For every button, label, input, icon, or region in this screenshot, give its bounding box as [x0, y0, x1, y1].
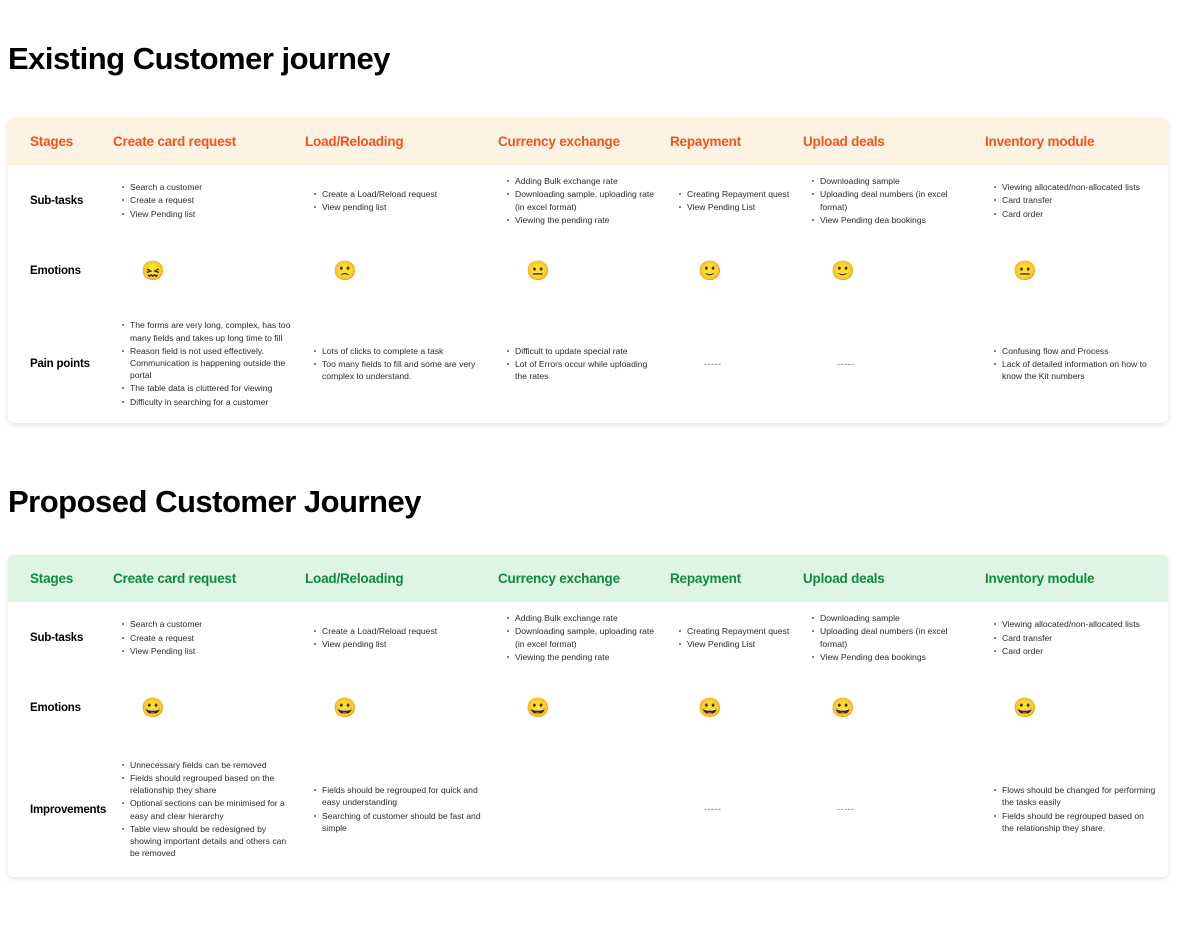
table-header-existing: Stages Create card request Load/Reloadin… [8, 118, 1168, 165]
bullet-item: Search a customer [122, 618, 293, 630]
column-header-stages: Stages [8, 118, 113, 165]
bullet-item: View pending list [314, 201, 486, 213]
bullet-item: View Pending dea bookings [812, 651, 973, 663]
cell-emotion-inventory-module: 😐 [985, 237, 1168, 305]
grinning-face-icon: 😀 [1013, 699, 1037, 718]
column-header-load-reloading: Load/Reloading [305, 118, 498, 165]
cell-improvements-upload-deals: ----- [803, 742, 985, 877]
bullet-item: The forms are very long, complex, has to… [122, 319, 293, 343]
cell-subtasks-repayment: Creating Repayment questView Pending Lis… [670, 165, 803, 237]
column-header-repayment: Repayment [670, 555, 803, 602]
bullet-item: Card order [994, 645, 1156, 657]
bullet-item: View pending list [314, 638, 486, 650]
column-header-upload-deals: Upload deals [803, 118, 985, 165]
column-header-currency-exchange: Currency exchange [498, 555, 670, 602]
grinning-face-icon: 😀 [831, 699, 855, 718]
bullet-item: Reason field is not used effectively. Co… [122, 345, 293, 382]
cell-subtasks-create-card: Search a customerCreate a requestView Pe… [113, 602, 305, 674]
column-header-load-reloading: Load/Reloading [305, 555, 498, 602]
table-row: Pain points The forms are very long, com… [8, 305, 1168, 423]
bullet-item: Fields should regrouped based on the rel… [122, 772, 293, 796]
bullet-item: The table data is cluttered for viewing [122, 382, 293, 394]
bullet-item: Create a Load/Reload request [314, 188, 486, 200]
bullet-item: Unnecessary fields can be removed [122, 759, 293, 771]
bullet-list: Creating Repayment questView Pending Lis… [670, 188, 791, 213]
neutral-face-icon: 😐 [526, 262, 550, 281]
bullet-item: Fields should be regrouped based on the … [994, 810, 1156, 834]
bullet-item: Adding Bulk exchange rate [507, 175, 658, 187]
section-title-proposed: Proposed Customer Journey [0, 485, 1178, 519]
table-row: Sub-tasks Search a customerCreate a requ… [8, 165, 1168, 237]
header-row: Stages Create card request Load/Reloadin… [8, 118, 1168, 165]
column-header-inventory-module: Inventory module [985, 555, 1168, 602]
cell-subtasks-inventory-module: Viewing allocated/non-allocated listsCar… [985, 165, 1168, 237]
bullet-item: View Pending list [122, 208, 293, 220]
cell-pain-upload-deals: ----- [803, 305, 985, 423]
section-gap [0, 423, 1178, 485]
bullet-item: Adding Bulk exchange rate [507, 612, 658, 624]
cell-subtasks-inventory-module: Viewing allocated/non-allocated listsCar… [985, 602, 1168, 674]
journey-table-proposed: Stages Create card request Load/Reloadin… [8, 555, 1168, 877]
cell-subtasks-upload-deals: Downloading sampleUploading deal numbers… [803, 602, 985, 674]
bullet-list: The forms are very long, complex, has to… [113, 319, 293, 407]
bullet-list: Search a customerCreate a requestView Pe… [113, 181, 293, 220]
slightly-smiling-face-icon: 🙂 [831, 262, 855, 281]
cell-pain-load-reloading: Lots of clicks to complete a taskToo man… [305, 305, 498, 423]
bullet-item: Fields should be regrouped for quick and… [314, 784, 486, 808]
column-header-upload-deals: Upload deals [803, 555, 985, 602]
bullet-list: Create a Load/Reload requestView pending… [305, 188, 486, 213]
bullet-item: View Pending List [679, 201, 791, 213]
cell-subtasks-currency-exchange: Adding Bulk exchange rateDownloading sam… [498, 602, 670, 674]
cell-emotion-inventory-module: 😀 [985, 674, 1168, 742]
cell-improvements-create-card: Unnecessary fields can be removedFields … [113, 742, 305, 877]
cell-subtasks-load-reloading: Create a Load/Reload requestView pending… [305, 602, 498, 674]
bullet-list: Confusing flow and ProcessLack of detail… [985, 345, 1156, 383]
row-label-subtasks: Sub-tasks [8, 602, 113, 674]
cell-emotion-load-reloading: 🙁 [305, 237, 498, 305]
bullet-item: Downloading sample, uploading rate (in e… [507, 625, 658, 649]
customer-journey-page: Existing Customer journey Stages Create … [0, 0, 1178, 933]
grinning-face-icon: 😀 [333, 699, 357, 718]
journey-table-existing: Stages Create card request Load/Reloadin… [8, 118, 1168, 423]
bullet-item: Difficult to update special rate [507, 345, 658, 357]
title-gap-existing [0, 76, 1178, 118]
bullet-item: Search a customer [122, 181, 293, 193]
slightly-frowning-face-icon: 🙁 [333, 262, 357, 281]
grinning-face-icon: 😀 [526, 699, 550, 718]
column-header-inventory-module: Inventory module [985, 118, 1168, 165]
bullet-item: Creating Repayment quest [679, 188, 791, 200]
empty-cell-placeholder: ----- [803, 803, 855, 816]
bullet-item: Lack of detailed information on how to k… [994, 358, 1156, 382]
confounded-face-icon: 😖 [141, 262, 165, 281]
bullet-item: View Pending list [122, 645, 293, 657]
table-row: Emotions 😖 🙁 😐 🙂 🙂 😐 [8, 237, 1168, 305]
header-row: Stages Create card request Load/Reloadin… [8, 555, 1168, 602]
table-header-proposed: Stages Create card request Load/Reloadin… [8, 555, 1168, 602]
journey-card-existing: Stages Create card request Load/Reloadin… [8, 118, 1168, 423]
table-row: Emotions 😀 😀 😀 😀 😀 😀 [8, 674, 1168, 742]
empty-cell-placeholder: ----- [670, 803, 722, 816]
column-header-repayment: Repayment [670, 118, 803, 165]
bullet-item: Viewing allocated/non-allocated lists [994, 181, 1156, 193]
cell-pain-create-card: The forms are very long, complex, has to… [113, 305, 305, 423]
empty-cell-placeholder: ----- [670, 358, 722, 371]
bullet-item: Card transfer [994, 632, 1156, 644]
neutral-face-icon: 😐 [1013, 262, 1037, 281]
table-row: Sub-tasks Search a customerCreate a requ… [8, 602, 1168, 674]
bullet-list: Difficult to update special rateLot of E… [498, 345, 658, 383]
table-row: Improvements Unnecessary fields can be r… [8, 742, 1168, 877]
bullet-list: Adding Bulk exchange rateDownloading sam… [498, 612, 658, 663]
bullet-list: Adding Bulk exchange rateDownloading sam… [498, 175, 658, 226]
cell-pain-repayment: ----- [670, 305, 803, 423]
journey-card-proposed: Stages Create card request Load/Reloadin… [8, 555, 1168, 877]
bullet-item: Card transfer [994, 194, 1156, 206]
cell-emotion-create-card: 😀 [113, 674, 305, 742]
grinning-face-icon: 😀 [698, 699, 722, 718]
bullet-item: Difficulty in searching for a customer [122, 396, 293, 408]
bullet-item: Downloading sample, uploading rate (in e… [507, 188, 658, 212]
table-body-existing: Sub-tasks Search a customerCreate a requ… [8, 165, 1168, 423]
bullet-item: Downloading sample [812, 612, 973, 624]
bullet-item: View Pending dea bookings [812, 214, 973, 226]
title-gap-proposed [0, 519, 1178, 555]
bullet-list: Downloading sampleUploading deal numbers… [803, 612, 973, 663]
bullet-list: Create a Load/Reload requestView pending… [305, 625, 486, 650]
bullet-item: Confusing flow and Process [994, 345, 1156, 357]
cell-pain-inventory-module: Confusing flow and ProcessLack of detail… [985, 305, 1168, 423]
grinning-face-icon: 😀 [141, 699, 165, 718]
bullet-list: Unnecessary fields can be removedFields … [113, 759, 293, 860]
cell-emotion-currency-exchange: 😀 [498, 674, 670, 742]
bullet-item: Viewing the pending rate [507, 651, 658, 663]
bullet-item: Flows should be changed for performing t… [994, 784, 1156, 808]
cell-improvements-currency-exchange [498, 742, 670, 877]
bullet-list: Viewing allocated/non-allocated listsCar… [985, 181, 1156, 220]
bullet-list: Lots of clicks to complete a taskToo man… [305, 345, 486, 383]
section-title-existing: Existing Customer journey [0, 42, 1178, 76]
cell-subtasks-create-card: Search a customerCreate a requestView Pe… [113, 165, 305, 237]
bullet-item: Card order [994, 208, 1156, 220]
bullet-list: Search a customerCreate a requestView Pe… [113, 618, 293, 657]
table-body-proposed: Sub-tasks Search a customerCreate a requ… [8, 602, 1168, 877]
cell-emotion-create-card: 😖 [113, 237, 305, 305]
bullet-item: Viewing allocated/non-allocated lists [994, 618, 1156, 630]
cell-emotion-upload-deals: 😀 [803, 674, 985, 742]
bullet-item: Too many fields to fill and some are ver… [314, 358, 486, 382]
cell-emotion-upload-deals: 🙂 [803, 237, 985, 305]
cell-subtasks-load-reloading: Create a Load/Reload requestView pending… [305, 165, 498, 237]
bullet-item: Viewing the pending rate [507, 214, 658, 226]
bullet-item: Optional sections can be minimised for a… [122, 797, 293, 821]
row-label-emotions: Emotions [8, 237, 113, 305]
bullet-list: Flows should be changed for performing t… [985, 784, 1156, 834]
bullet-item: Creating Repayment quest [679, 625, 791, 637]
bullet-list: Viewing allocated/non-allocated listsCar… [985, 618, 1156, 657]
bullet-item: Uploading deal numbers (in excel format) [812, 188, 973, 212]
bullet-item: Searching of customer should be fast and… [314, 810, 486, 834]
bullet-item: Lots of clicks to complete a task [314, 345, 486, 357]
row-label-pain-points: Pain points [8, 305, 113, 423]
bullet-list: Fields should be regrouped for quick and… [305, 784, 486, 834]
bullet-item: Create a request [122, 194, 293, 206]
cell-subtasks-upload-deals: Downloading sampleUploading deal numbers… [803, 165, 985, 237]
bullet-item: Downloading sample [812, 175, 973, 187]
cell-improvements-repayment: ----- [670, 742, 803, 877]
bullet-item: Create a request [122, 632, 293, 644]
row-label-subtasks: Sub-tasks [8, 165, 113, 237]
cell-emotion-repayment: 😀 [670, 674, 803, 742]
bullet-list: Downloading sampleUploading deal numbers… [803, 175, 973, 226]
row-label-improvements: Improvements [8, 742, 113, 877]
cell-pain-currency-exchange: Difficult to update special rateLot of E… [498, 305, 670, 423]
bullet-item: View Pending List [679, 638, 791, 650]
cell-subtasks-currency-exchange: Adding Bulk exchange rateDownloading sam… [498, 165, 670, 237]
row-label-emotions: Emotions [8, 674, 113, 742]
bullet-list: Creating Repayment questView Pending Lis… [670, 625, 791, 650]
cell-emotion-currency-exchange: 😐 [498, 237, 670, 305]
column-header-create-card: Create card request [113, 555, 305, 602]
cell-subtasks-repayment: Creating Repayment questView Pending Lis… [670, 602, 803, 674]
column-header-create-card: Create card request [113, 118, 305, 165]
cell-emotion-repayment: 🙂 [670, 237, 803, 305]
bullet-item: Uploading deal numbers (in excel format) [812, 625, 973, 649]
bullet-item: Create a Load/Reload request [314, 625, 486, 637]
column-header-currency-exchange: Currency exchange [498, 118, 670, 165]
slightly-smiling-face-icon: 🙂 [698, 262, 722, 281]
top-spacer [0, 0, 1178, 42]
bullet-item: Lot of Errors occur while uploading the … [507, 358, 658, 382]
empty-cell-placeholder: ----- [803, 358, 855, 371]
column-header-stages: Stages [8, 555, 113, 602]
bullet-item: Table view should be redesigned by showi… [122, 823, 293, 860]
cell-improvements-load-reloading: Fields should be regrouped for quick and… [305, 742, 498, 877]
cell-improvements-inventory-module: Flows should be changed for performing t… [985, 742, 1168, 877]
cell-emotion-load-reloading: 😀 [305, 674, 498, 742]
